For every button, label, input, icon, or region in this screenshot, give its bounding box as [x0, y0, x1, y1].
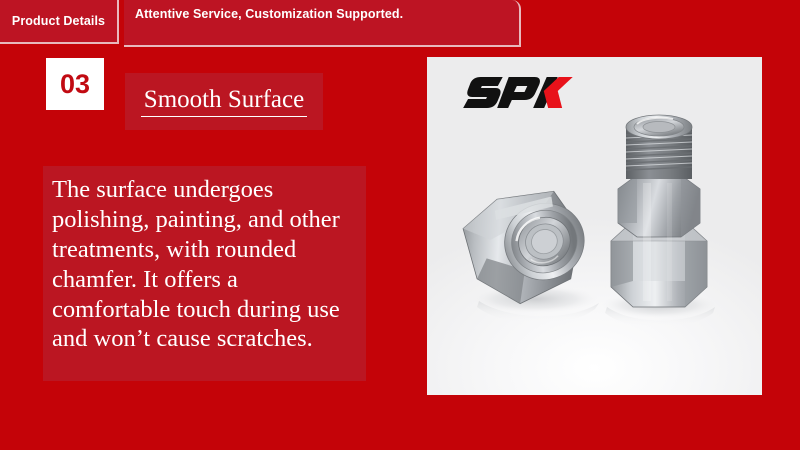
slide-canvas: Product Details Attentive Service, Custo…: [0, 0, 800, 450]
spk-logo-letter-p: [497, 77, 541, 108]
spk-logo-letter-s: [463, 77, 504, 108]
spk-logo: [452, 71, 574, 113]
feature-body-box: The surface undergoes polishing, paintin…: [43, 166, 366, 381]
header-banner: Attentive Service, Customization Support…: [124, 0, 521, 47]
feature-body-label: The surface undergoes polishing, paintin…: [52, 175, 352, 354]
feature-title-box: Smooth Surface: [125, 73, 323, 130]
header-banner-label: Attentive Service, Customization Support…: [135, 7, 403, 21]
header-tab-label: Product Details: [12, 14, 105, 28]
slide-header: Product Details Attentive Service, Custo…: [0, 0, 521, 47]
feature-number-label: 03: [60, 71, 90, 98]
header-tab-product-details[interactable]: Product Details: [0, 0, 119, 44]
product-photo: [427, 57, 762, 395]
feature-number-badge: 03: [46, 58, 104, 110]
feature-title-label: Smooth Surface: [141, 87, 307, 117]
